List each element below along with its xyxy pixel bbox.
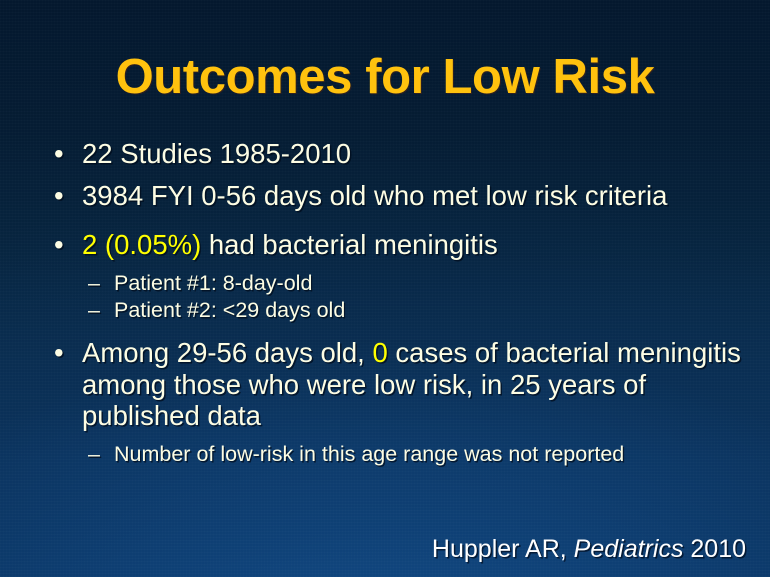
- bullet-3-text: had bacterial meningitis: [201, 229, 498, 260]
- bullet-marker-icon: •: [54, 229, 64, 260]
- slide-body-list: • 22 Studies 1985-2010 • 3984 FYI 0-56 d…: [44, 138, 742, 469]
- subbullet-item-3-1: – Patient #1: 8-day-old: [44, 271, 742, 296]
- subbullet-marker-icon: –: [88, 442, 100, 467]
- citation-author: Huppler AR,: [432, 535, 574, 563]
- subbullet-3-1-text: Patient #1: 8-day-old: [114, 271, 312, 295]
- subbullet-4-1-text: Number of low-risk in this age range was…: [114, 442, 624, 466]
- bullet-3-subgroup: – Patient #1: 8-day-old – Patient #2: <2…: [44, 271, 742, 323]
- bullet-item-3: • 2 (0.05%) had bacterial meningitis: [44, 229, 742, 260]
- bullet-2-text: 3984 FYI 0-56 days old who met low risk …: [82, 180, 667, 211]
- bullet-1-text: 22 Studies 1985-2010: [82, 138, 351, 169]
- bullet-marker-icon: •: [54, 180, 64, 211]
- bullet-marker-icon: •: [54, 337, 64, 368]
- subbullet-item-3-2: – Patient #2: <29 days old: [44, 298, 742, 323]
- bullet-3-highlight: 2 (0.05%): [82, 229, 201, 260]
- bullet-item-2: • 3984 FYI 0-56 days old who met low ris…: [44, 180, 742, 211]
- subbullet-marker-icon: –: [88, 298, 100, 323]
- subbullet-3-2-text: Patient #2: <29 days old: [114, 298, 345, 322]
- presentation-slide: Outcomes for Low Risk • 22 Studies 1985-…: [0, 0, 770, 577]
- bullet-item-4: • Among 29-56 days old, 0 cases of bacte…: [44, 337, 742, 431]
- subbullet-item-4-1: – Number of low-risk in this age range w…: [44, 442, 742, 467]
- bullet-marker-icon: •: [54, 138, 64, 169]
- slide-title: Outcomes for Low Risk: [0, 52, 770, 103]
- bullet-4-text-pre: Among 29-56 days old,: [82, 337, 372, 368]
- bullet-4-highlight: 0: [372, 337, 387, 368]
- spacer: [44, 325, 742, 337]
- citation: Huppler AR, Pediatrics 2010: [432, 536, 746, 564]
- citation-journal: Pediatrics: [574, 535, 684, 563]
- slide-content: Outcomes for Low Risk • 22 Studies 1985-…: [0, 0, 770, 577]
- citation-year: 2010: [683, 535, 746, 563]
- bullet-4-subgroup: – Number of low-risk in this age range w…: [44, 442, 742, 467]
- subbullet-marker-icon: –: [88, 271, 100, 296]
- bullet-item-1: • 22 Studies 1985-2010: [44, 138, 742, 169]
